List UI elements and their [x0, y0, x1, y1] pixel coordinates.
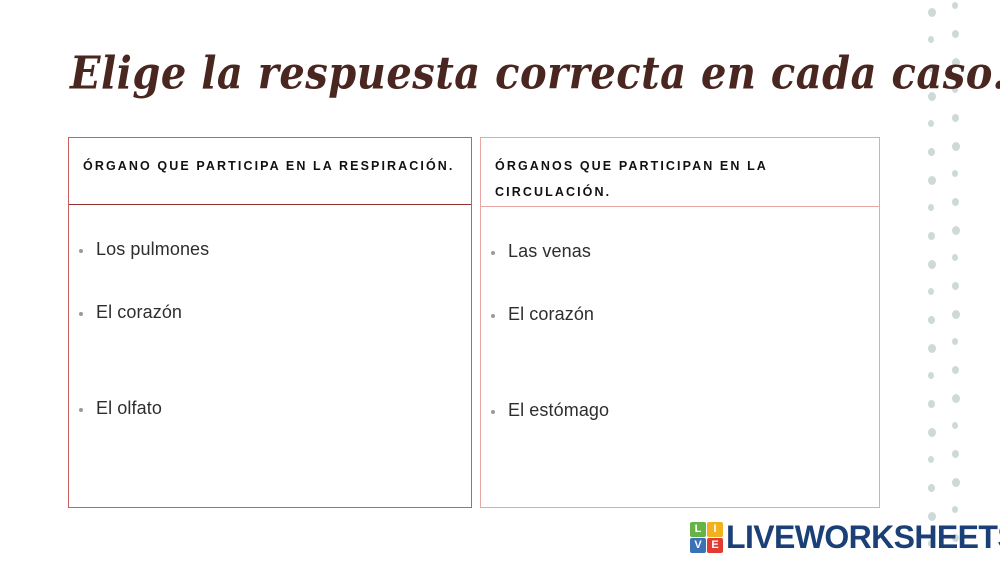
decorative-dot — [928, 456, 934, 463]
decorative-dot — [952, 142, 960, 151]
decorative-dot — [928, 232, 935, 240]
decorative-dot — [952, 254, 958, 261]
bullet-icon — [491, 251, 495, 255]
decorative-dot — [928, 176, 936, 185]
option-label: Los pulmones — [96, 238, 209, 260]
decorative-dot — [952, 226, 960, 235]
decorative-dot — [928, 204, 934, 211]
decorative-dot — [928, 288, 934, 295]
worksheet-page: Elige la respuesta correcta en cada caso… — [0, 0, 1000, 562]
page-title: Elige la respuesta correcta en cada caso… — [70, 48, 890, 100]
table-header-respiracion: ÓRGANO QUE PARTICIPA EN LA RESPIRACIÓN. — [69, 138, 471, 205]
option-label: El corazón — [96, 301, 182, 323]
table-header-label: ÓRGANO QUE PARTICIPA EN LA RESPIRACIÓN. — [83, 153, 471, 179]
option-list-respiracion: Los pulmones El corazón El olfato — [69, 205, 471, 493]
decorative-dot — [952, 450, 959, 458]
option-item[interactable]: Las venas — [481, 207, 879, 303]
logo-tile-v: V — [690, 538, 706, 553]
table-header-circulacion: ÓRGANOS QUE PARTICIPAN EN LA CIRCULACIÓN… — [481, 138, 879, 207]
logo-tile-e: E — [707, 538, 723, 553]
decorative-dot — [952, 282, 959, 290]
decorative-dot — [928, 36, 934, 43]
decorative-dot — [928, 120, 934, 127]
table-body-circulacion: Las venas El corazón El estómago — [481, 207, 879, 509]
decorative-dot — [952, 30, 959, 38]
question-table-respiracion: ÓRGANO QUE PARTICIPA EN LA RESPIRACIÓN. … — [68, 137, 472, 508]
option-item[interactable]: El corazón — [69, 301, 471, 397]
decorative-dot — [952, 422, 958, 429]
option-item[interactable]: El corazón — [481, 303, 879, 399]
bullet-icon — [79, 408, 83, 412]
option-list-circulacion: Las venas El corazón El estómago — [481, 207, 879, 495]
option-item[interactable]: Los pulmones — [69, 205, 471, 301]
decorative-dot — [928, 148, 935, 156]
question-table-circulacion: ÓRGANOS QUE PARTICIPAN EN LA CIRCULACIÓN… — [480, 137, 880, 508]
bullet-icon — [79, 312, 83, 316]
logo-tile-i: I — [707, 522, 723, 537]
bullet-icon — [79, 249, 83, 253]
option-label: El corazón — [508, 303, 594, 325]
table-body-respiracion: Los pulmones El corazón El olfato — [69, 205, 471, 507]
decorative-dot — [952, 478, 960, 487]
option-label: Las venas — [508, 240, 591, 262]
decorative-dot — [928, 316, 935, 324]
option-label: El olfato — [96, 397, 162, 419]
decorative-dot — [952, 2, 958, 9]
decorative-dot — [928, 344, 936, 353]
decorative-dot — [928, 260, 936, 269]
decorative-dot — [928, 372, 934, 379]
option-item[interactable]: El olfato — [69, 397, 471, 493]
decorative-dot — [928, 400, 935, 408]
decorative-dot — [952, 338, 958, 345]
option-item[interactable]: El estómago — [481, 399, 879, 495]
decorative-dot — [952, 114, 959, 122]
table-header-label: ÓRGANOS QUE PARTICIPAN EN LA CIRCULACIÓN… — [495, 153, 879, 205]
decorative-dot — [928, 428, 936, 437]
decorative-dot — [952, 394, 960, 403]
logo-wordmark: LIVEWORKSHEETS — [726, 521, 1000, 553]
bullet-icon — [491, 410, 495, 414]
decorative-dot — [952, 506, 958, 513]
liveworksheets-logo[interactable]: L I V E LIVEWORKSHEETS — [690, 521, 1000, 553]
bullet-icon — [491, 314, 495, 318]
option-label: El estómago — [508, 399, 609, 421]
decorative-dot — [952, 170, 958, 177]
decorative-dot — [952, 310, 960, 319]
decorative-dot — [928, 484, 935, 492]
decorative-dot — [928, 8, 936, 17]
logo-tiles-icon: L I V E — [690, 522, 723, 553]
decorative-dot — [952, 366, 959, 374]
decorative-dot — [952, 198, 959, 206]
logo-tile-l: L — [690, 522, 706, 537]
